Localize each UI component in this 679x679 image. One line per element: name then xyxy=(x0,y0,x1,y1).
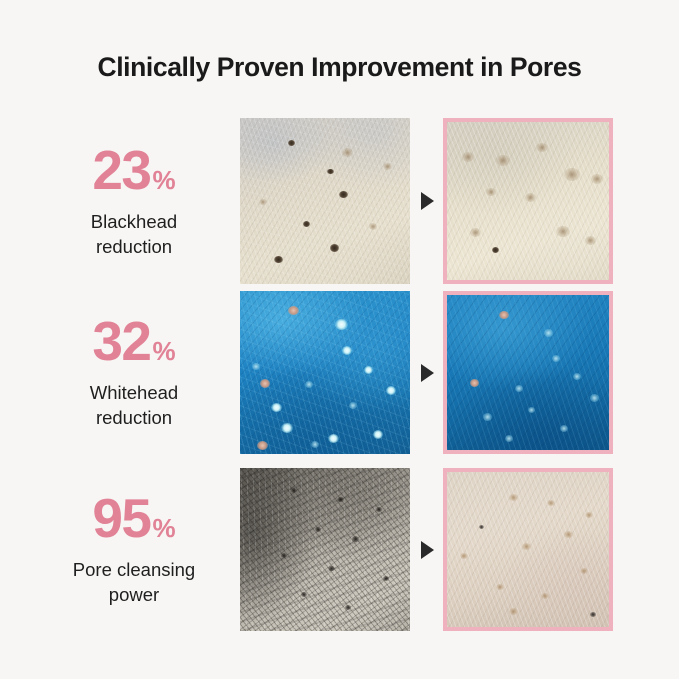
blemish-dot xyxy=(528,407,535,413)
blemish-dot xyxy=(288,306,299,315)
percent-symbol: % xyxy=(153,515,176,541)
blemish-dot xyxy=(252,363,260,370)
before-image-pore-cleansing xyxy=(240,468,410,631)
blemish-dot xyxy=(560,425,568,432)
stat-row-whitehead: 32 % Whitehead reduction xyxy=(0,291,679,454)
blemish-dot xyxy=(541,593,549,599)
stat-value: 32 xyxy=(92,314,150,369)
blemish-dot xyxy=(342,346,352,355)
blemish-dot xyxy=(335,319,348,330)
blemish-dot xyxy=(552,355,560,362)
stat-block-blackhead: 23 % Blackhead reduction xyxy=(36,118,232,284)
before-image-blackhead xyxy=(240,118,410,284)
blemish-dot xyxy=(257,441,268,450)
blemish-dot xyxy=(383,576,389,581)
blemish-dot xyxy=(342,148,353,157)
blemish-dot xyxy=(536,143,548,152)
blemish-dot xyxy=(349,402,357,409)
after-image-whitehead xyxy=(443,291,613,454)
blemish-dot xyxy=(271,403,282,412)
blemish-dot xyxy=(509,608,518,615)
blemish-dot xyxy=(376,507,382,512)
blemish-dot xyxy=(573,373,581,380)
blemish-dot xyxy=(591,174,603,184)
stat-label: Pore cleansing power xyxy=(73,558,195,608)
blemish-dot xyxy=(470,379,479,387)
stat-label-line1: Blackhead xyxy=(91,210,177,235)
blemish-dot xyxy=(585,512,593,518)
blemish-dot xyxy=(305,381,313,388)
blemish-dot xyxy=(505,435,513,442)
blemish-dot xyxy=(544,329,553,337)
arrow-right-icon xyxy=(421,364,434,382)
stat-row-pore-cleansing: 95 % Pore cleansing power xyxy=(0,468,679,631)
blemish-dot xyxy=(585,236,596,245)
blemish-dot xyxy=(590,612,596,617)
blemish-dot xyxy=(281,553,287,558)
blemish-dot xyxy=(303,221,310,227)
blemish-dot xyxy=(499,311,509,319)
stat-row-blackhead: 23 % Blackhead reduction xyxy=(0,118,679,284)
blemish-spots xyxy=(240,291,410,454)
blemish-dot xyxy=(564,531,573,538)
stat-block-whitehead: 32 % Whitehead reduction xyxy=(36,291,232,454)
blemish-dot xyxy=(515,385,523,392)
blemish-dot xyxy=(496,584,504,590)
blemish-dot xyxy=(274,256,283,263)
stat-label: Blackhead reduction xyxy=(91,210,177,260)
blemish-dot xyxy=(327,169,334,174)
blemish-dot xyxy=(339,191,348,198)
skin-texture-before xyxy=(240,118,410,284)
blemish-dot xyxy=(556,226,570,237)
blemish-dot xyxy=(315,527,321,532)
blemish-spots xyxy=(240,118,410,284)
blemish-dot xyxy=(337,497,344,502)
after-image-blackhead xyxy=(443,118,613,284)
percent-symbol: % xyxy=(153,338,176,364)
blemish-dot xyxy=(479,525,484,529)
blemish-spots xyxy=(447,122,609,280)
stat-number-line: 23 % xyxy=(92,143,175,198)
stat-label-line2: reduction xyxy=(91,235,177,260)
blemish-spots xyxy=(447,472,609,627)
blemish-dot xyxy=(486,188,496,196)
blemish-dot xyxy=(383,163,392,170)
arrow-right-icon xyxy=(421,192,434,210)
stat-label-line2: power xyxy=(73,583,195,608)
stat-number-line: 32 % xyxy=(92,314,175,369)
stat-block-pore-cleansing: 95 % Pore cleansing power xyxy=(36,468,232,631)
skin-texture-before xyxy=(240,291,410,454)
blemish-dot xyxy=(291,488,297,493)
skin-texture-before xyxy=(240,468,410,631)
blemish-dot xyxy=(462,152,474,162)
blemish-dot xyxy=(369,223,377,230)
blemish-dot xyxy=(509,494,518,501)
blemish-dot xyxy=(281,423,293,433)
blemish-dot xyxy=(311,441,319,448)
blemish-dot xyxy=(352,536,359,542)
blemish-dot xyxy=(330,244,339,252)
percent-symbol: % xyxy=(153,167,176,193)
blemish-dot xyxy=(345,605,351,610)
blemish-spots xyxy=(447,295,609,450)
stat-label-line1: Pore cleansing xyxy=(73,558,195,583)
blemish-dot xyxy=(373,430,383,439)
blemish-dot xyxy=(364,366,373,374)
blemish-dot xyxy=(259,199,267,205)
pores-infographic: Clinically Proven Improvement in Pores 2… xyxy=(0,0,679,679)
stat-value: 95 xyxy=(92,491,150,546)
blemish-dot xyxy=(328,434,339,443)
arrow-right-icon xyxy=(421,541,434,559)
stat-label: Whitehead reduction xyxy=(90,381,178,431)
after-image-pore-cleansing xyxy=(443,468,613,631)
blemish-dot xyxy=(328,566,335,571)
blemish-dot xyxy=(260,379,270,388)
blemish-dot xyxy=(492,247,499,253)
blemish-dot xyxy=(288,140,295,146)
page-title: Clinically Proven Improvement in Pores xyxy=(0,52,679,83)
blemish-dot xyxy=(522,543,531,550)
blemish-spots xyxy=(240,468,410,631)
skin-texture-after xyxy=(447,295,609,450)
blemish-dot xyxy=(483,413,492,421)
stat-label-line2: reduction xyxy=(90,406,178,431)
blemish-dot xyxy=(470,228,481,237)
blemish-dot xyxy=(580,568,588,574)
blemish-dot xyxy=(301,592,307,597)
blemish-dot xyxy=(460,553,468,559)
before-image-whitehead xyxy=(240,291,410,454)
stat-label-line1: Whitehead xyxy=(90,381,178,406)
skin-texture-after xyxy=(447,122,609,280)
blemish-dot xyxy=(386,386,396,395)
stat-value: 23 xyxy=(92,143,150,198)
stat-number-line: 95 % xyxy=(92,491,175,546)
blemish-dot xyxy=(525,193,536,202)
blemish-dot xyxy=(564,168,580,181)
blemish-dot xyxy=(547,500,555,506)
blemish-dot xyxy=(590,394,599,402)
skin-texture-after xyxy=(447,472,609,627)
blemish-dot xyxy=(496,155,510,166)
